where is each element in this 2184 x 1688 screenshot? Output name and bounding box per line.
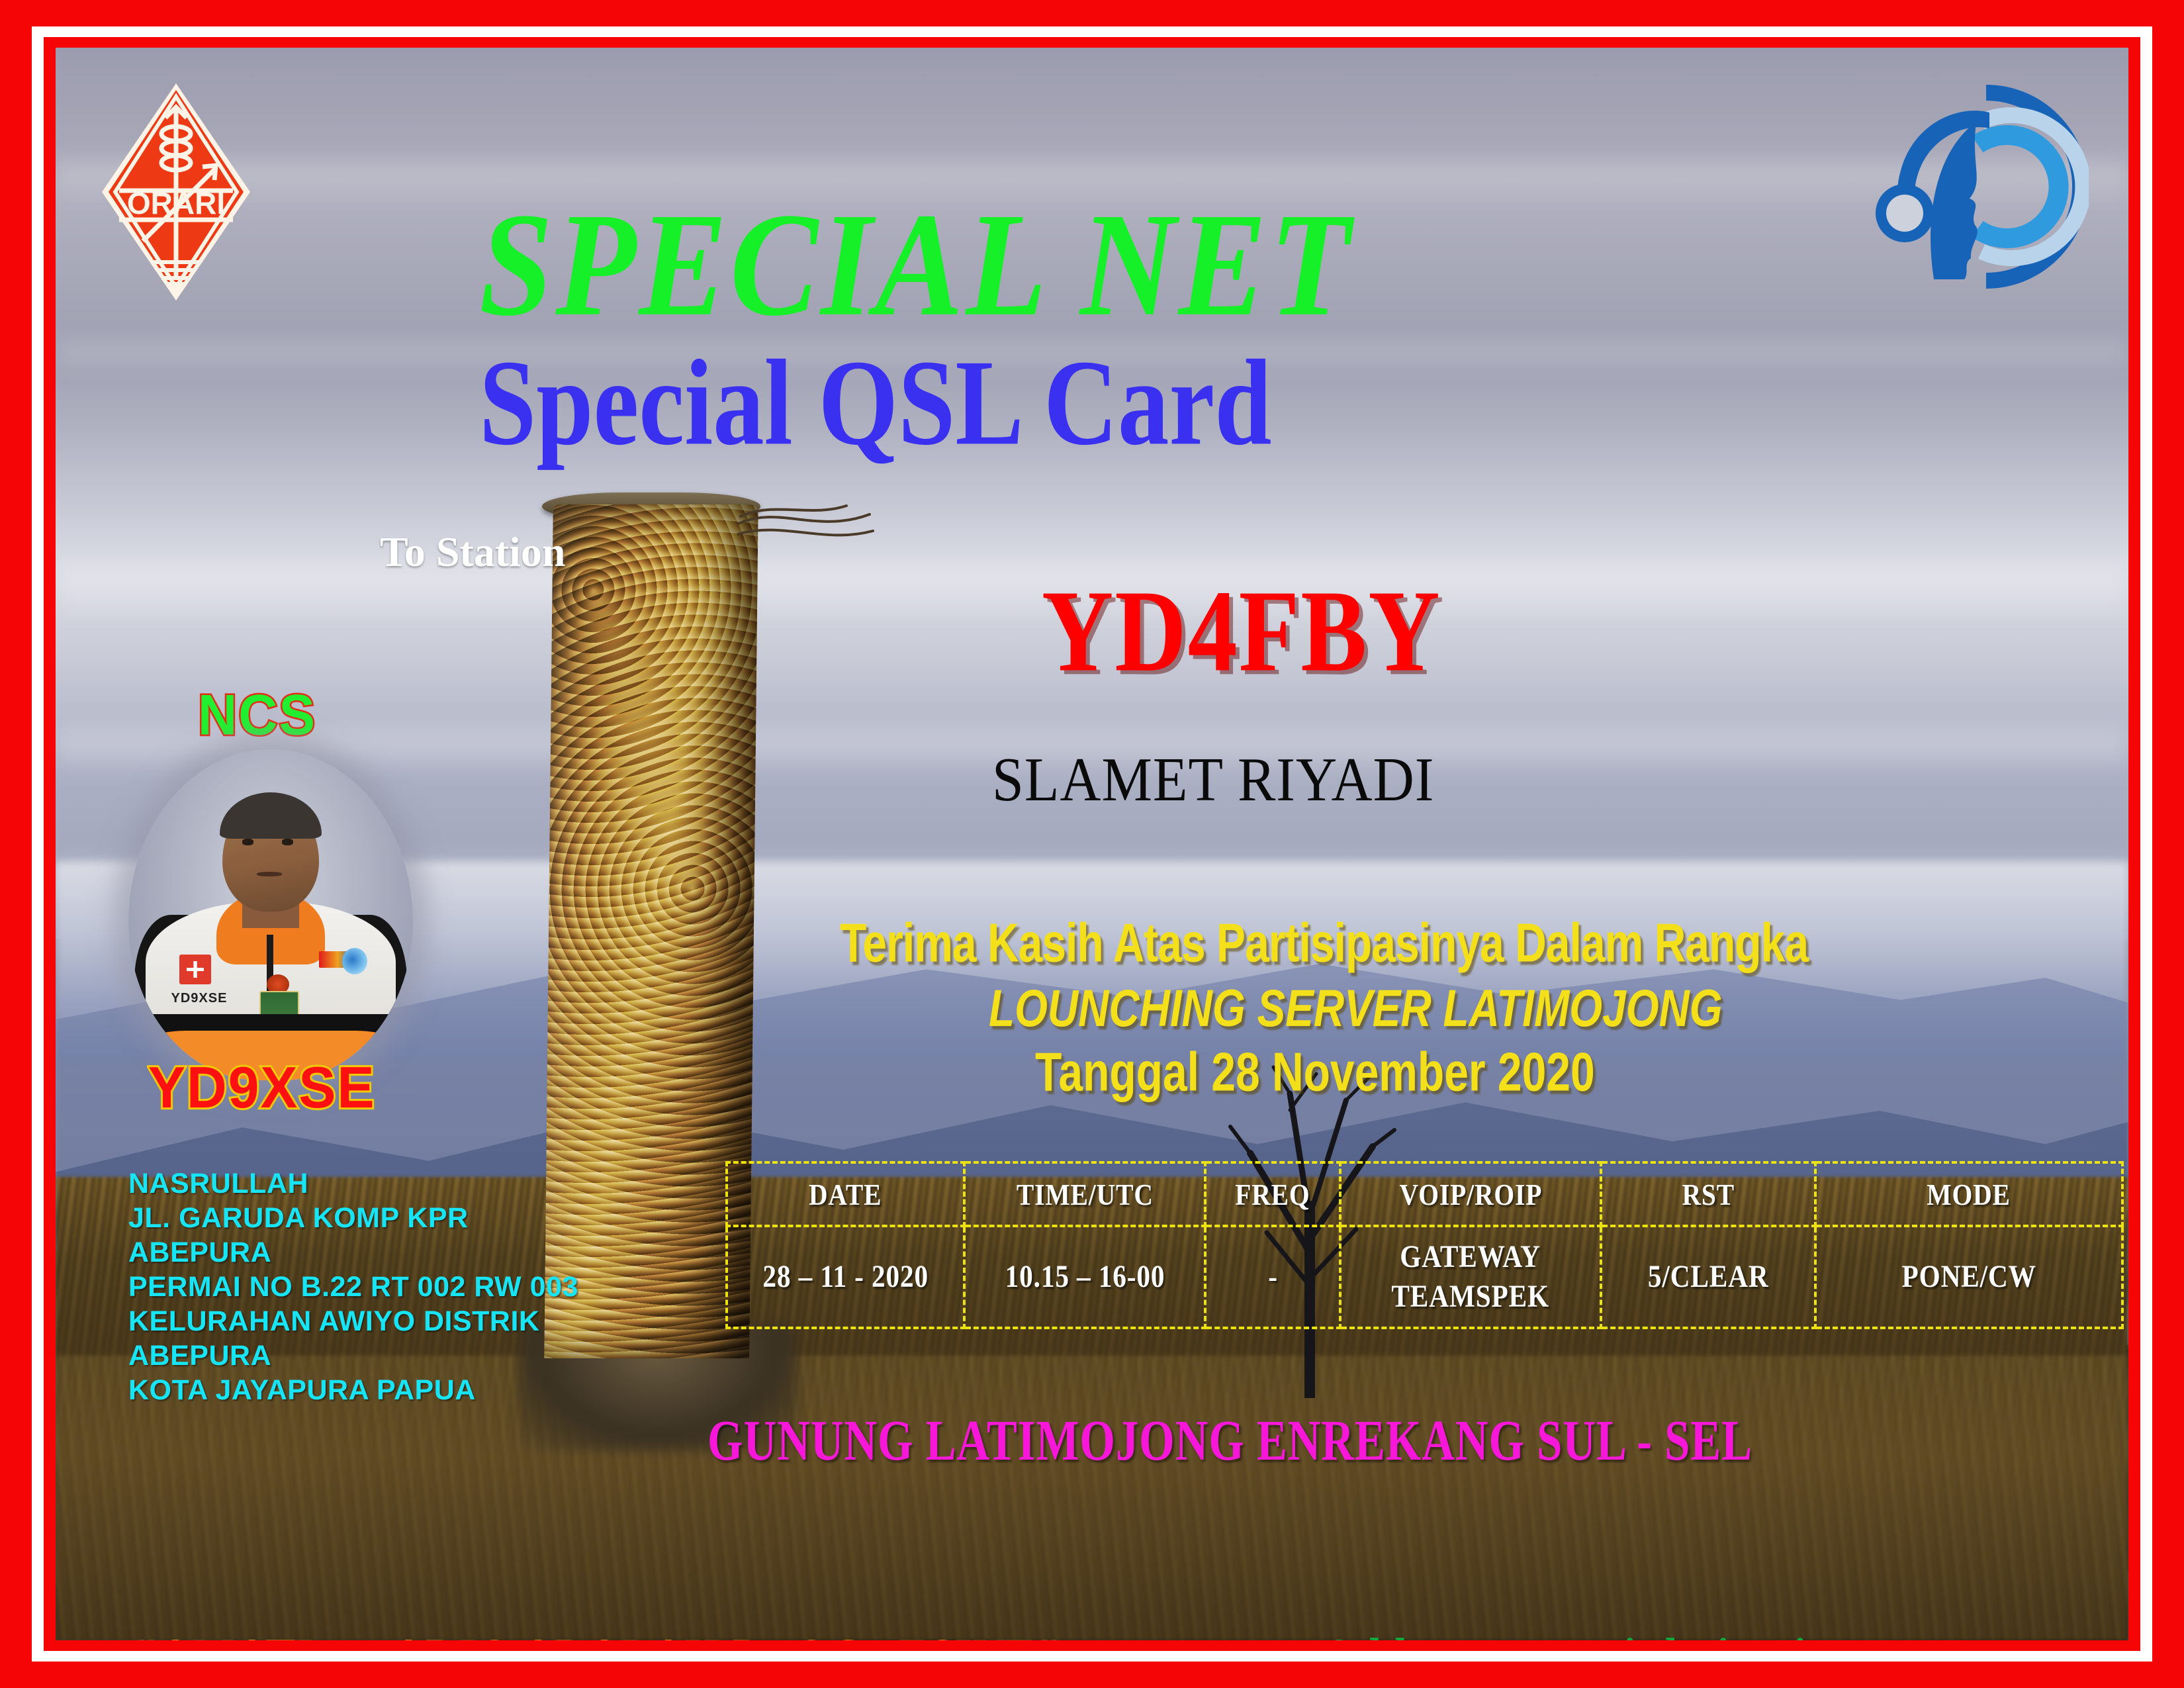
address-line: ABEPURA [128, 1235, 671, 1270]
voip-network-logo [1870, 81, 2089, 293]
uniform-badge-right-round [342, 948, 368, 974]
ncs-label: NCS [198, 683, 316, 749]
th-freq: FREQ [1205, 1162, 1340, 1226]
orari-logo: ORARI [97, 79, 255, 305]
eye-left [242, 839, 253, 845]
address-line: PERMAI NO B.22 RT 002 RW 003 [128, 1270, 671, 1304]
qsl-card: ORARI S [0, 0, 2184, 1688]
orari-logo-text: ORARI [127, 186, 225, 220]
th-date: DATE [727, 1162, 964, 1226]
to-station-label: To Station [380, 528, 565, 577]
card-photo-area: ORARI S [56, 48, 2128, 1640]
eye-right [282, 839, 293, 845]
td-rst: 5/CLEAR [1601, 1226, 1815, 1328]
qso-log-table: DATE TIME/UTC FREQ VOIP/ROIP RST MODE 28… [725, 1161, 2124, 1329]
mouth [257, 872, 283, 876]
uniform-badge-left [179, 955, 210, 984]
location-label: GUNUNG LATIMOJONG ENREKANG SUL - SEL [707, 1408, 1752, 1474]
th-mode: MODE [1815, 1162, 2122, 1226]
voip-line-2: TEAMSPEK [1392, 1277, 1550, 1317]
sender-address-block: NASRULLAH JL. GARUDA KOMP KPR ABEPURA PE… [128, 1166, 671, 1407]
th-voip: VOIP/ROIP [1340, 1162, 1601, 1226]
td-date: 28 – 11 - 2020 [727, 1226, 964, 1328]
td-mode: PONE/CW [1815, 1226, 2122, 1328]
page-title: SPECIAL NET [479, 180, 1353, 350]
address-line: KELURAHAN AWIYO DISTRIK [128, 1304, 671, 1338]
address-line: KOTA JAYAPURA PAPUA [128, 1373, 671, 1407]
voip-line-1: GATEWAY [1400, 1237, 1541, 1277]
address-line: NASRULLAH [128, 1166, 671, 1201]
page-subtitle: Special QSL Card [479, 332, 1271, 473]
operator-name: SLAMET RIYADI [992, 743, 1434, 816]
thanks-line-2: LOUNCHING SERVER LATIMOJONG [989, 978, 1723, 1038]
th-rst: RST [1601, 1162, 1815, 1226]
motto-text: "AMATIR RADIO ADALAH PROGRESIVE" [134, 1626, 1062, 1640]
td-voip: GATEWAY TEAMSPEK [1340, 1226, 1601, 1328]
cairn-grass-wisp [737, 498, 876, 557]
thanks-line-3: Tanggal 28 November 2020 [1035, 1041, 1595, 1103]
td-freq: - [1205, 1226, 1340, 1328]
ncs-callsign: YD9XSE [148, 1054, 376, 1121]
table-row: 28 – 11 - 2020 10.15 – 16-00 - GATEWAY T… [727, 1226, 2122, 1328]
ncs-operator-photo: YD9XSE [128, 749, 413, 1080]
td-time: 10.15 – 16-00 [964, 1226, 1205, 1328]
web-address-label: Address : amatir.latimojong.com [1323, 1626, 1973, 1640]
table-header-row: DATE TIME/UTC FREQ VOIP/ROIP RST MODE [727, 1162, 2122, 1226]
address-line: ABEPURA [128, 1338, 671, 1373]
shirt-callsign-text: YD9XSE [171, 991, 228, 1006]
address-line: JL. GARUDA KOMP KPR [128, 1201, 671, 1235]
thanks-line-1: Terima Kasih Atas Partisipasinya Dalam R… [840, 912, 1808, 974]
callsign-heading: YD4FBY [1042, 564, 1441, 698]
th-time: TIME/UTC [964, 1162, 1205, 1226]
